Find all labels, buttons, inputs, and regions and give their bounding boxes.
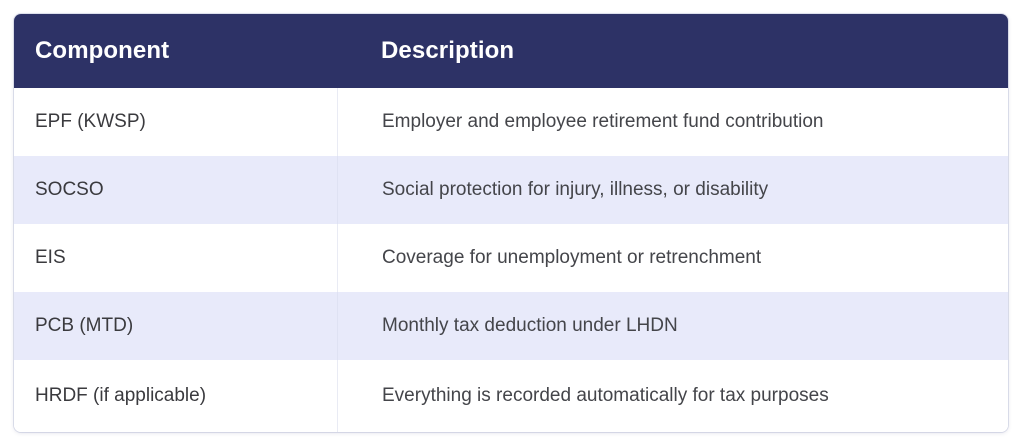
statutory-components-table: Component Description EPF (KWSP) Employe…	[14, 14, 1008, 432]
cell-component: EPF (KWSP)	[14, 88, 337, 156]
table-row: SOCSO Social protection for injury, illn…	[14, 156, 1008, 224]
cell-description: Social protection for injury, illness, o…	[337, 156, 1008, 224]
cell-description: Monthly tax deduction under LHDN	[337, 292, 1008, 360]
table-row: PCB (MTD) Monthly tax deduction under LH…	[14, 292, 1008, 360]
cell-description: Everything is recorded automatically for…	[337, 360, 1008, 432]
cell-description: Coverage for unemployment or retrenchmen…	[337, 224, 1008, 292]
cell-component: HRDF (if applicable)	[14, 360, 337, 432]
statutory-components-table-container: Component Description EPF (KWSP) Employe…	[14, 14, 1008, 433]
column-header-description: Description	[337, 14, 1008, 88]
table-header-row: Component Description	[14, 14, 1008, 88]
table-body: EPF (KWSP) Employer and employee retirem…	[14, 88, 1008, 432]
table-row: EPF (KWSP) Employer and employee retirem…	[14, 88, 1008, 156]
cell-description: Employer and employee retirement fund co…	[337, 88, 1008, 156]
cell-component: EIS	[14, 224, 337, 292]
table-row: EIS Coverage for unemployment or retrenc…	[14, 224, 1008, 292]
cell-component: SOCSO	[14, 156, 337, 224]
table-header: Component Description	[14, 14, 1008, 88]
column-header-component: Component	[14, 14, 337, 88]
table-row: HRDF (if applicable) Everything is recor…	[14, 360, 1008, 432]
cell-component: PCB (MTD)	[14, 292, 337, 360]
